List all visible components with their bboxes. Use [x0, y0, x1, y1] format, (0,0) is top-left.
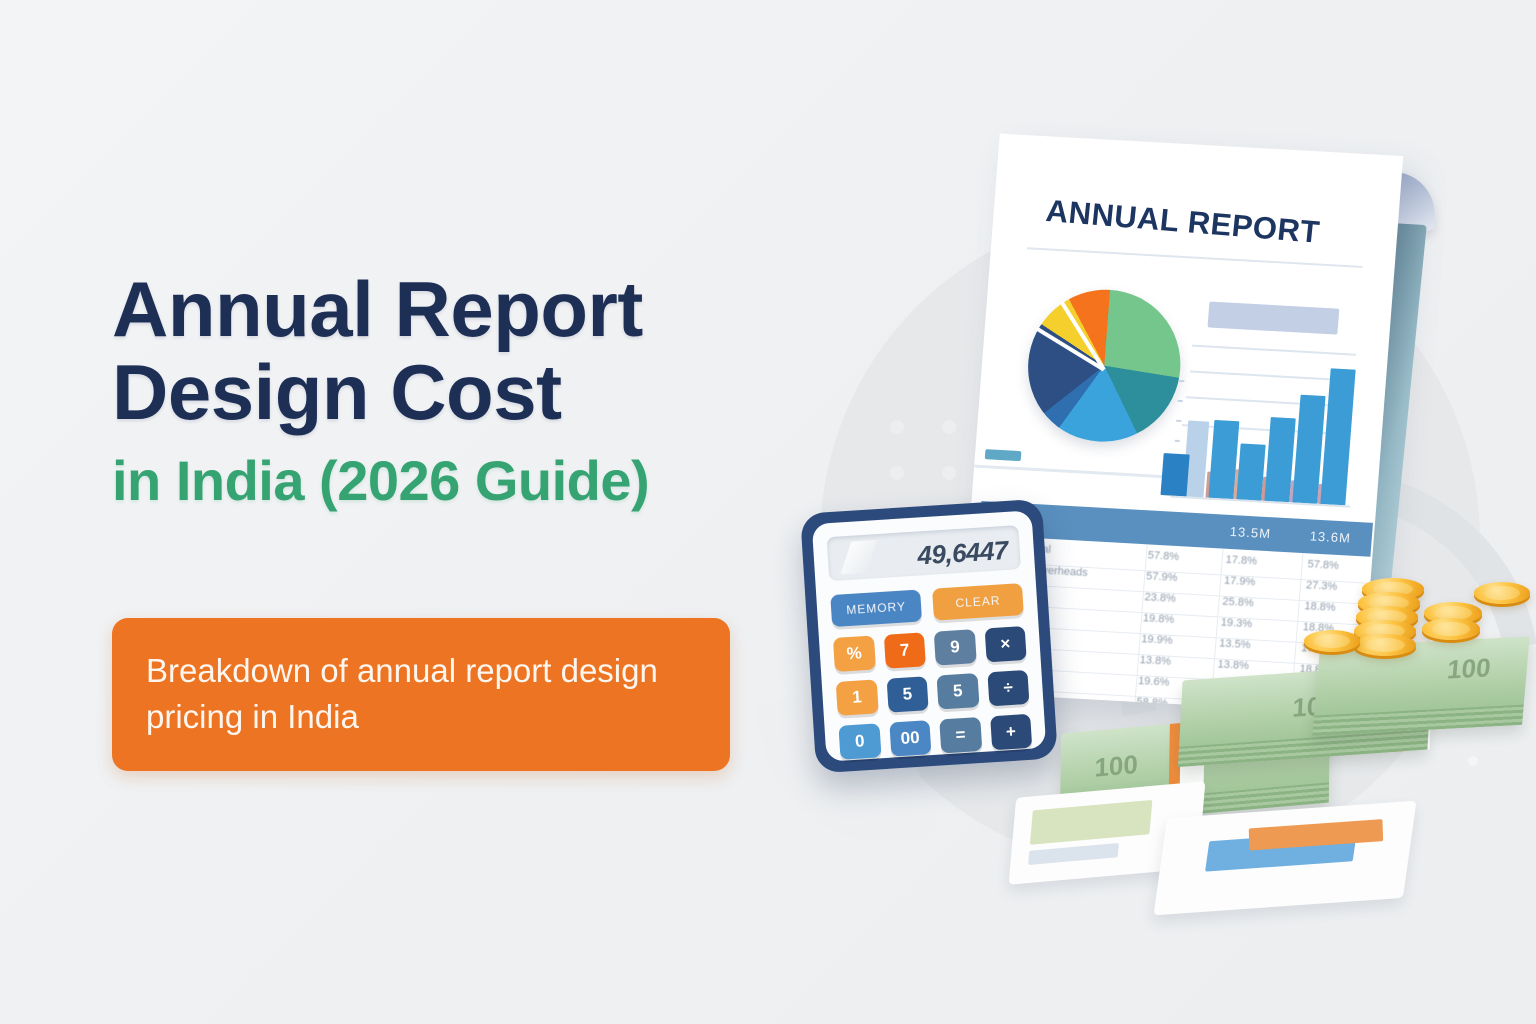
- calculator[interactable]: 49,6447 MEMORY CLEAR %79×155÷000=+: [800, 499, 1058, 774]
- coin-far-right: [1474, 582, 1530, 604]
- document-title: ANNUAL REPORT: [1044, 193, 1321, 251]
- table-cell: 19.3%: [1220, 617, 1252, 631]
- pie-chart-legend: [985, 449, 1022, 461]
- cash-bundle-back: 100: [1312, 636, 1529, 736]
- paper-swatch-green: [1030, 800, 1153, 845]
- text-line-1: [1192, 345, 1356, 356]
- calculator-face: 49,6447 MEMORY CLEAR %79×155÷000=+: [812, 510, 1047, 761]
- hero-banner: Annual Report Design Cost in India (2026…: [0, 0, 1536, 1024]
- calculator-key[interactable]: =: [939, 717, 982, 753]
- axis-tick: [1179, 380, 1184, 382]
- calculator-key[interactable]: 0: [838, 723, 881, 759]
- title-line-2: Design Cost: [112, 348, 562, 436]
- badge-text: Breakdown of annual report design pricin…: [146, 648, 696, 739]
- bar-dark: [1160, 453, 1189, 496]
- calculator-key[interactable]: +: [990, 714, 1033, 750]
- table-cell: 27.3%: [1306, 579, 1338, 593]
- axis-tick: [1176, 420, 1181, 422]
- subtitle-badge: Breakdown of annual report design pricin…: [112, 618, 730, 771]
- table-cell: 13.5%: [1219, 638, 1251, 652]
- note-denomination-a: 100: [1094, 749, 1138, 784]
- paper-swatch-orange: [1249, 819, 1383, 850]
- bar: [1320, 368, 1355, 505]
- table-cell: 19.6%: [1138, 675, 1170, 689]
- calculator-key[interactable]: ×: [984, 626, 1027, 662]
- report-paper-right: [1153, 801, 1416, 916]
- table-cell: 13.8%: [1139, 654, 1171, 668]
- coin-right-lower: [1422, 618, 1480, 640]
- text-placeholder-block: [1207, 301, 1339, 334]
- coin-single-left: [1304, 630, 1360, 652]
- calculator-key[interactable]: 9: [934, 629, 977, 665]
- table-cell: 23.8%: [1144, 591, 1176, 605]
- calculator-key[interactable]: 1: [836, 679, 879, 715]
- table-header-cell-3: 13.6M: [1309, 528, 1351, 545]
- calculator-clear-key[interactable]: CLEAR: [932, 583, 1024, 621]
- calculator-keypad[interactable]: %79×155÷000=+: [833, 626, 1032, 760]
- calculator-memory-key[interactable]: MEMORY: [830, 589, 922, 627]
- headline-block: Annual Report Design Cost in India (2026…: [112, 268, 812, 512]
- table-cell: 57.8%: [1307, 558, 1339, 572]
- coin-stack-5: [1354, 634, 1416, 656]
- table-cell: 17.9%: [1224, 575, 1256, 589]
- table-cell: 58.8%: [1136, 696, 1168, 710]
- table-header-cell-2: 13.5M: [1229, 524, 1271, 541]
- calculator-display-value: 49,6447: [917, 535, 1009, 572]
- table-cell: 18.8%: [1304, 600, 1336, 614]
- page-title: Annual Report Design Cost: [112, 268, 812, 433]
- calculator-key[interactable]: 5: [937, 673, 980, 709]
- screen-glint: [840, 540, 877, 574]
- calculator-key[interactable]: 7: [883, 632, 926, 668]
- note-denomination-c: 100: [1446, 652, 1492, 685]
- table-cell: 57.8%: [1147, 549, 1179, 563]
- bar-chart: [1178, 356, 1359, 505]
- table-cell: 57.9%: [1146, 570, 1178, 584]
- axis-tick: [1178, 400, 1183, 402]
- table-cell: 19.9%: [1141, 633, 1173, 647]
- calculator-key[interactable]: %: [833, 635, 876, 671]
- paper-swatch-gray: [1028, 843, 1119, 865]
- page-subtitle: in India (2026 Guide): [112, 451, 812, 511]
- calculator-key[interactable]: 5: [886, 676, 929, 712]
- calculator-key[interactable]: 00: [889, 720, 932, 756]
- table-cell: 25.8%: [1222, 596, 1254, 610]
- axis-tick: [1175, 440, 1180, 442]
- title-line-1: Annual Report: [112, 265, 643, 353]
- table-cell: 13.8%: [1217, 658, 1249, 672]
- table-cell: 17.8%: [1225, 554, 1257, 568]
- table-cell: 19.8%: [1143, 612, 1175, 626]
- finance-illustration: ANNUAL REPORT 13.5M: [760, 110, 1536, 940]
- calculator-function-row: MEMORY CLEAR: [830, 583, 1024, 627]
- calculator-display: 49,6447: [827, 525, 1021, 581]
- calculator-key[interactable]: ÷: [987, 670, 1030, 706]
